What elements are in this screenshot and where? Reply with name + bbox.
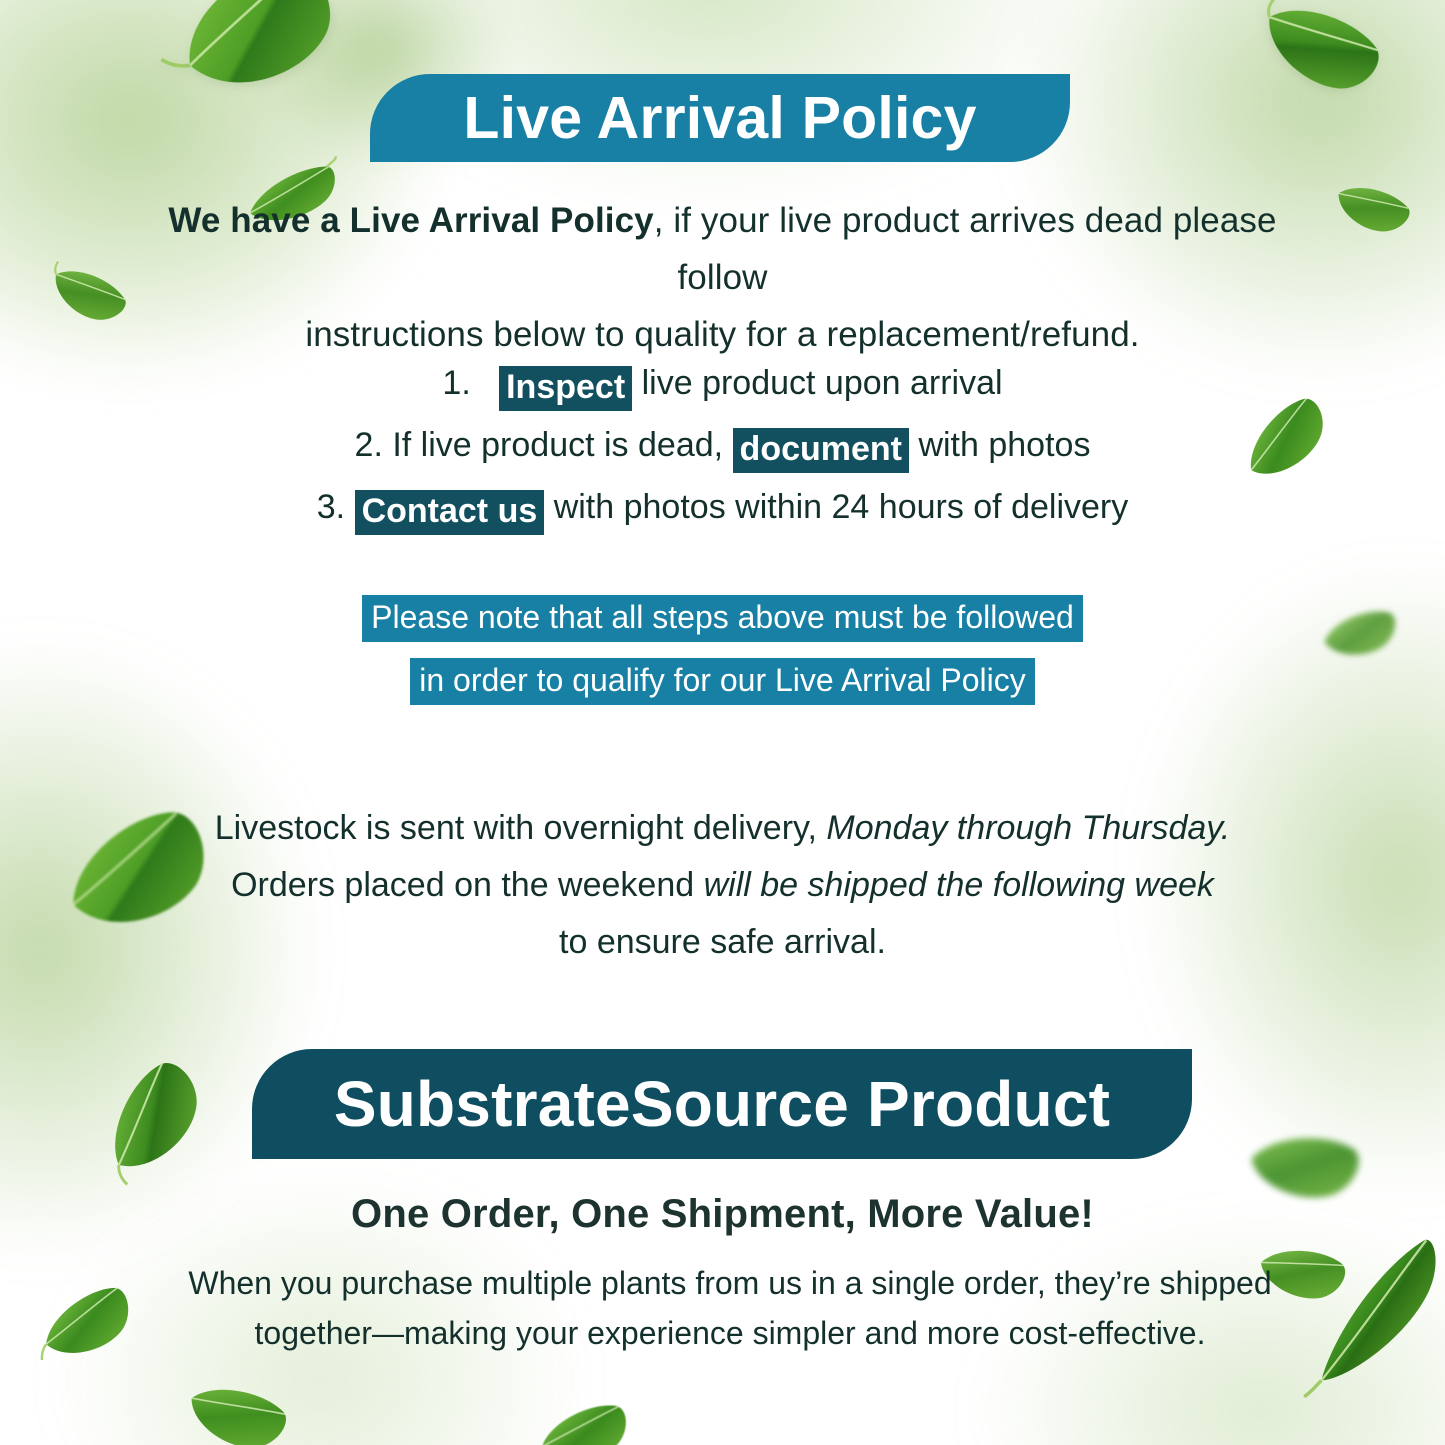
step-number: 3. <box>317 488 345 526</box>
steps-list: 1. Inspect live product upon arrival 2. … <box>120 352 1325 538</box>
leaf-icon <box>38 248 138 341</box>
please-note-line1-wrap: Please note that all steps above must be… <box>120 586 1325 649</box>
please-note-line2: in order to qualify for our Live Arrival… <box>410 658 1034 705</box>
leaf-icon <box>1241 0 1398 117</box>
shipping-line2-plain: Orders placed on the weekend <box>231 866 694 904</box>
substratesource-product-banner-label: SubstrateSource Product <box>334 1067 1110 1141</box>
leaf-icon <box>26 1275 149 1374</box>
leaf-icon <box>528 1396 641 1445</box>
step-highlight-document: document <box>733 428 909 473</box>
shipping-line1-plain: Livestock is sent with overnight deliver… <box>215 809 817 847</box>
step-highlight-contact-us: Contact us <box>355 490 545 535</box>
product-tagline: One Order, One Shipment, More Value! <box>150 1192 1295 1237</box>
substratesource-product-banner: SubstrateSource Product <box>252 1049 1192 1159</box>
live-arrival-policy-banner: Live Arrival Policy <box>370 74 1070 162</box>
step-number: 1. <box>442 364 470 402</box>
please-note-line1: Please note that all steps above must be… <box>362 595 1083 642</box>
product-body-line1: When you purchase multiple plants from u… <box>188 1265 1271 1301</box>
step-item-1: 1. Inspect live product upon arrival <box>120 352 1325 414</box>
please-note-block: Please note that all steps above must be… <box>120 586 1325 712</box>
intro-line2: instructions below to quality for a repl… <box>305 315 1139 354</box>
product-body-line2: together—making your experience simpler … <box>255 1315 1206 1351</box>
leaf-icon <box>1323 166 1421 250</box>
intro-bold-lead: We have a Live Arrival Policy <box>168 201 653 240</box>
live-arrival-policy-infographic: Live Arrival Policy We have a Live Arriv… <box>0 0 1445 1445</box>
step-highlight-inspect: Inspect <box>499 366 632 411</box>
shipping-paragraph: Livestock is sent with overnight deliver… <box>150 800 1295 971</box>
intro-paragraph: We have a Live Arrival Policy, if your l… <box>150 192 1295 363</box>
product-body: When you purchase multiple plants from u… <box>150 1258 1310 1358</box>
step-number: 2. <box>355 426 383 464</box>
step-text-after: live product upon arrival <box>642 364 1003 402</box>
leaf-icon <box>81 1043 228 1196</box>
shipping-line3: to ensure safe arrival. <box>559 923 886 961</box>
step-text-before: If live product is dead, <box>392 426 723 464</box>
step-text-after: with photos within 24 hours of delivery <box>554 488 1129 526</box>
intro-rest-line1: , if your live product arrives dead plea… <box>654 201 1277 297</box>
step-item-2: 2. If live product is dead, document wit… <box>120 414 1325 476</box>
step-text-after: with photos <box>918 426 1090 464</box>
shipping-line2-italic: will be shipped the following week <box>704 866 1214 904</box>
please-note-line2-wrap: in order to qualify for our Live Arrival… <box>120 649 1325 712</box>
step-item-3: 3. Contact us with photos within 24 hour… <box>120 476 1325 538</box>
leaf-icon <box>1315 603 1405 665</box>
leaf-icon <box>143 0 363 127</box>
leaf-icon <box>170 1362 301 1445</box>
live-arrival-policy-banner-label: Live Arrival Policy <box>463 84 976 152</box>
shipping-line1-italic: Monday through Thursday. <box>826 809 1230 847</box>
